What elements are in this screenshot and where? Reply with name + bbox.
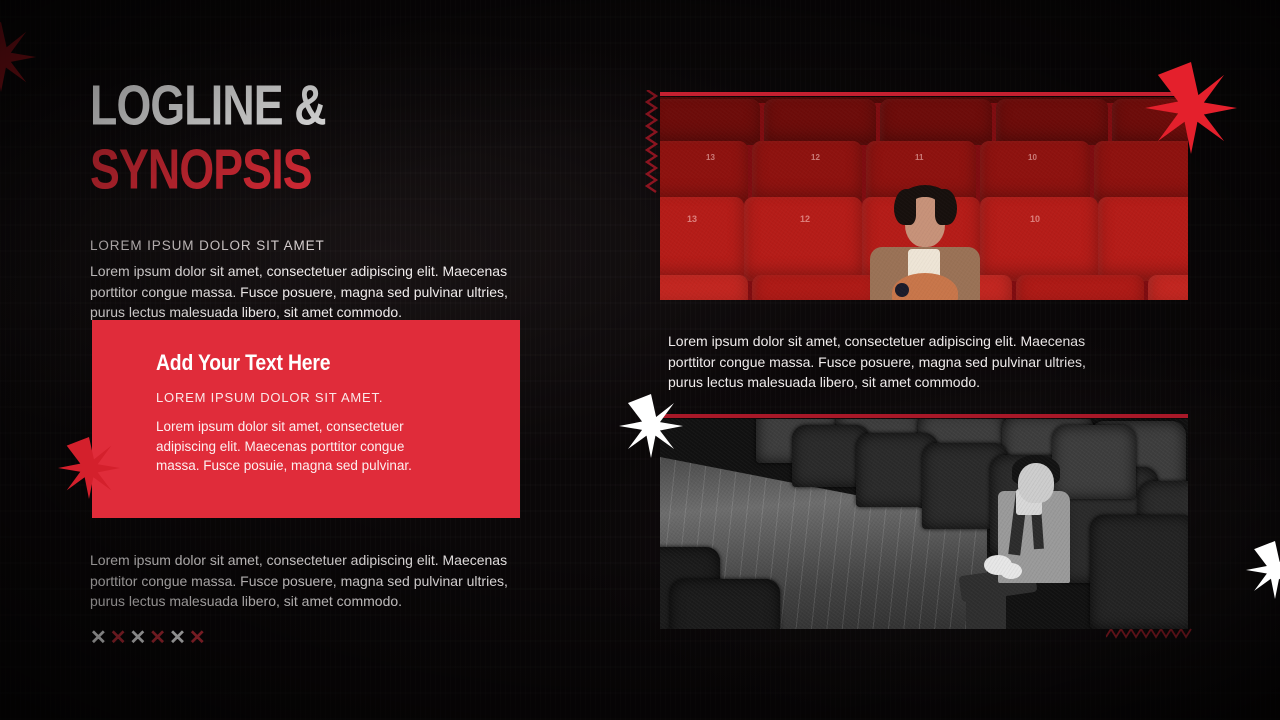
x-mark-icon: ✕ [169, 628, 186, 648]
seat-number: 12 [800, 214, 810, 224]
bottom-left-block: Lorem ipsum dolor sit amet, consectetuer… [90, 550, 535, 648]
bw-theatre-scene [660, 419, 1188, 629]
zigzag-vertical-left-photo-icon [644, 90, 660, 196]
highlight-card-title: Add Your Text Here [156, 350, 446, 376]
intro-eyebrow: LOREM IPSUM DOLOR SIT AMET [90, 238, 535, 253]
highlight-card-eyebrow: LOREM IPSUM DOLOR SIT AMET. [156, 390, 486, 405]
highlight-card-inner: Add Your Text Here LOREM IPSUM DOLOR SIT… [92, 320, 520, 476]
x-mark-icon: ✕ [130, 628, 147, 648]
photo-bottom-rule [660, 414, 1188, 418]
seat-number: 12 [811, 153, 820, 162]
photo-top-image: 13 12 11 10 13 12 11 10 [660, 97, 1188, 300]
photo-top-cinema-red[interactable]: 13 12 11 10 13 12 11 10 [660, 92, 1188, 300]
seat-number: 10 [1030, 214, 1040, 224]
x-mark-icon: ✕ [149, 628, 166, 648]
x-mark-icon: ✕ [189, 628, 206, 648]
photo-top-rule [660, 92, 1188, 96]
seat-number: 10 [1028, 153, 1037, 162]
starburst-right-edge-icon [1246, 541, 1280, 599]
right-column-body: Lorem ipsum dolor sit amet, consectetuer… [668, 331, 1118, 393]
x-mark-icon: ✕ [90, 628, 107, 648]
bottom-left-body: Lorem ipsum dolor sit amet, consectetuer… [90, 550, 530, 612]
seat-number: 11 [915, 153, 923, 162]
highlight-card[interactable]: Add Your Text Here LOREM IPSUM DOLOR SIT… [92, 320, 520, 518]
photo-bottom-image [660, 419, 1188, 629]
seat-number: 13 [687, 214, 697, 224]
slide-canvas: LOGLINE & SYNOPSIS LOREM IPSUM DOLOR SIT… [0, 0, 1280, 720]
intro-body: Lorem ipsum dolor sit amet, consectetuer… [90, 261, 530, 323]
page-title-line1: LOGLINE & [90, 78, 473, 134]
x-mark-row: ✕ ✕ ✕ ✕ ✕ ✕ [90, 628, 535, 648]
page-title-line2: SYNOPSIS [90, 142, 473, 198]
x-mark-icon: ✕ [110, 628, 127, 648]
starburst-left-top-icon [0, 22, 36, 92]
photo-bottom-theatre-bw[interactable] [660, 414, 1188, 629]
cinema-seat-field: 13 12 11 10 13 12 11 10 [660, 97, 1188, 300]
left-content-column: LOGLINE & SYNOPSIS LOREM IPSUM DOLOR SIT… [90, 78, 535, 323]
highlight-card-body: Lorem ipsum dolor sit amet, consectetuer… [156, 417, 446, 476]
seat-number: 13 [706, 153, 715, 162]
